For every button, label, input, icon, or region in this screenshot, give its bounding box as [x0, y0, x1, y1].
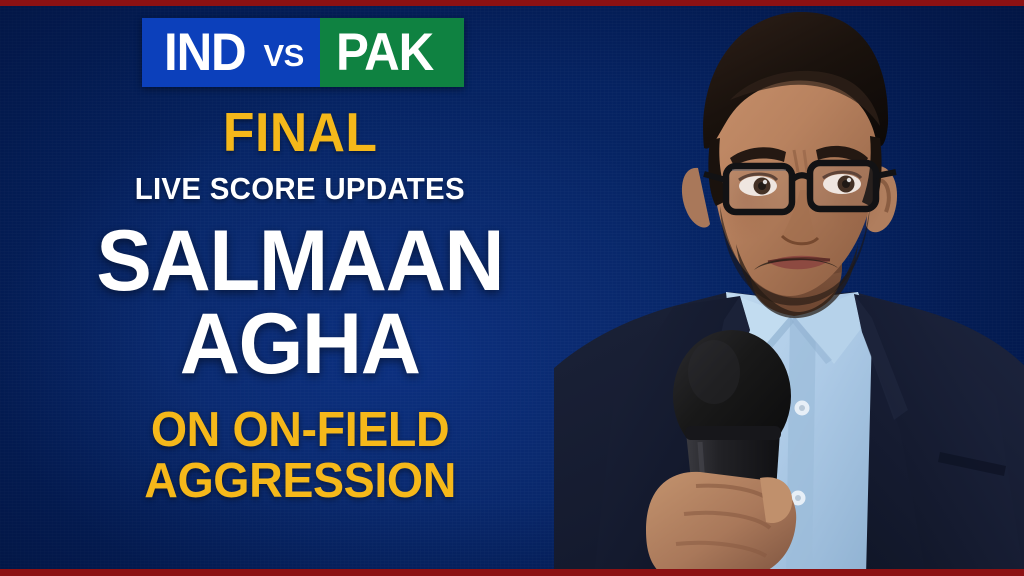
bottom-accent-bar	[0, 569, 1024, 576]
match-banner: IND VS PAK	[142, 18, 464, 87]
topic-subtitle: ON ON-FIELD AGGRESSION	[136, 405, 464, 507]
match-stage-label: FINAL	[223, 105, 378, 160]
headline-text-column: IND VS PAK FINAL LIVE SCORE UPDATES SALM…	[0, 0, 600, 576]
subject-portrait-image	[554, 0, 1024, 576]
subject-name-line-1: SALMAAN	[97, 220, 504, 303]
top-accent-bar	[0, 0, 1024, 6]
live-updates-kicker: LIVE SCORE UPDATES	[135, 173, 465, 204]
subject-name: SALMAAN AGHA	[90, 220, 509, 385]
home-team-label: IND	[164, 26, 246, 79]
topic-subtitle-line-2: AGGRESSION	[144, 456, 456, 507]
thumbnail-canvas: IND VS PAK FINAL LIVE SCORE UPDATES SALM…	[0, 0, 1024, 576]
versus-label: VS	[263, 40, 303, 71]
home-team-block: IND VS	[142, 18, 320, 87]
away-team-block: PAK	[320, 18, 464, 87]
away-team-label: PAK	[336, 26, 433, 79]
subject-name-line-2: AGHA	[180, 303, 420, 386]
topic-subtitle-line-1: ON ON-FIELD	[151, 405, 449, 456]
